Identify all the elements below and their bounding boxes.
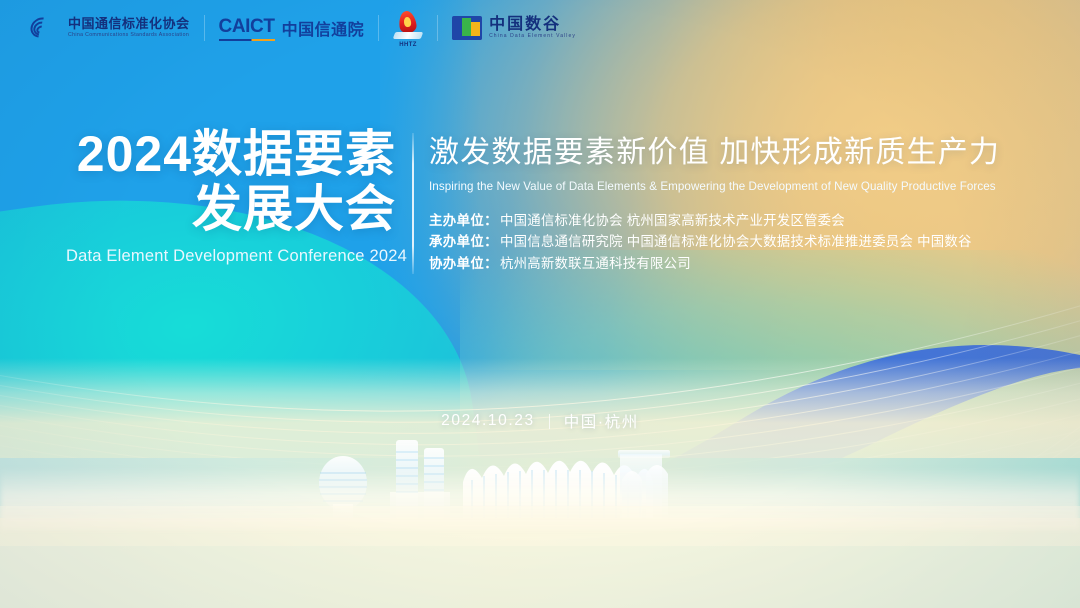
event-date-location: 2024.10.23 中国·杭州 [0,410,1080,432]
conference-poster: 中国通信标准化协会 China Communications Standards… [0,0,1080,608]
logo-hhtz[interactable]: HHTZ [393,11,423,45]
data-valley-blocks-icon [452,16,482,40]
organizer-row-undertaker: 承办单位： 中国信息通信研究院 中国通信标准化协会大数据技术标准推进委员会 中国… [429,231,1029,253]
logo-caict-cn: 中国信通院 [282,16,365,40]
organizer-label-undertaker: 承办单位： [429,231,498,253]
logo-ccsa[interactable]: 中国通信标准化协会 China Communications Standards… [28,11,190,45]
organizer-label-coorganizer: 协办单位： [429,253,498,275]
organizer-row-host: 主办单位： 中国通信标准化协会 杭州国家高新技术产业开发区管委会 [429,210,1029,232]
logo-china-data-valley[interactable]: 中国数谷 China Data Element Valley [452,11,576,45]
logo-divider-3 [437,15,438,41]
slogan-and-organizers: 激发数据要素新价值 加快形成新质生产力 Inspiring the New Va… [429,134,1029,275]
logo-ccsa-cn: 中国通信标准化协会 [68,17,190,31]
logo-cdv-cn: 中国数谷 [489,16,576,34]
event-title-line1: 2024数据要素 [66,128,396,181]
event-location: 中国·杭州 [564,410,639,432]
organizer-row-coorganizer: 协办单位： 杭州高新数联互通科技有限公司 [429,253,1029,275]
event-title-line2: 发展大会 [66,183,396,236]
organizer-list: 主办单位： 中国通信标准化协会 杭州国家高新技术产业开发区管委会 承办单位： 中… [429,210,1029,275]
event-title-english: Data Element Development Conference 2024 [66,247,396,266]
date-location-separator [549,414,550,429]
organizer-label-host: 主办单位： [429,210,498,232]
event-title-block: 2024数据要素 发展大会 Data Element Development C… [66,128,396,266]
sponsor-logo-bar: 中国通信标准化协会 China Communications Standards… [0,0,1080,56]
title-slogan-divider [412,133,414,274]
logo-hhtz-abbr: HHTZ [393,42,423,48]
ccsa-swoosh-icon [28,15,62,41]
organizer-value-host: 中国通信标准化协会 杭州国家高新技术产业开发区管委会 [500,210,845,232]
event-slogan-cn: 激发数据要素新价值 加快形成新质生产力 [429,134,1029,172]
organizer-value-undertaker: 中国信息通信研究院 中国通信标准化协会大数据技术标准推进委员会 中国数谷 [500,231,972,253]
event-slogan-en: Inspiring the New Value of Data Elements… [429,179,1029,194]
event-date: 2024.10.23 [441,412,535,430]
caict-wordmark-icon: CAICT [219,16,275,41]
logo-caict[interactable]: CAICT 中国信通院 [219,11,365,45]
background-vignette [0,0,1080,608]
hhtz-flame-icon: HHTZ [393,10,423,46]
logo-cdv-en: China Data Element Valley [489,33,576,40]
organizer-value-coorganizer: 杭州高新数联互通科技有限公司 [500,253,691,275]
logo-divider-2 [378,15,379,41]
logo-ccsa-en: China Communications Standards Associati… [68,32,190,39]
logo-divider-1 [204,15,205,41]
